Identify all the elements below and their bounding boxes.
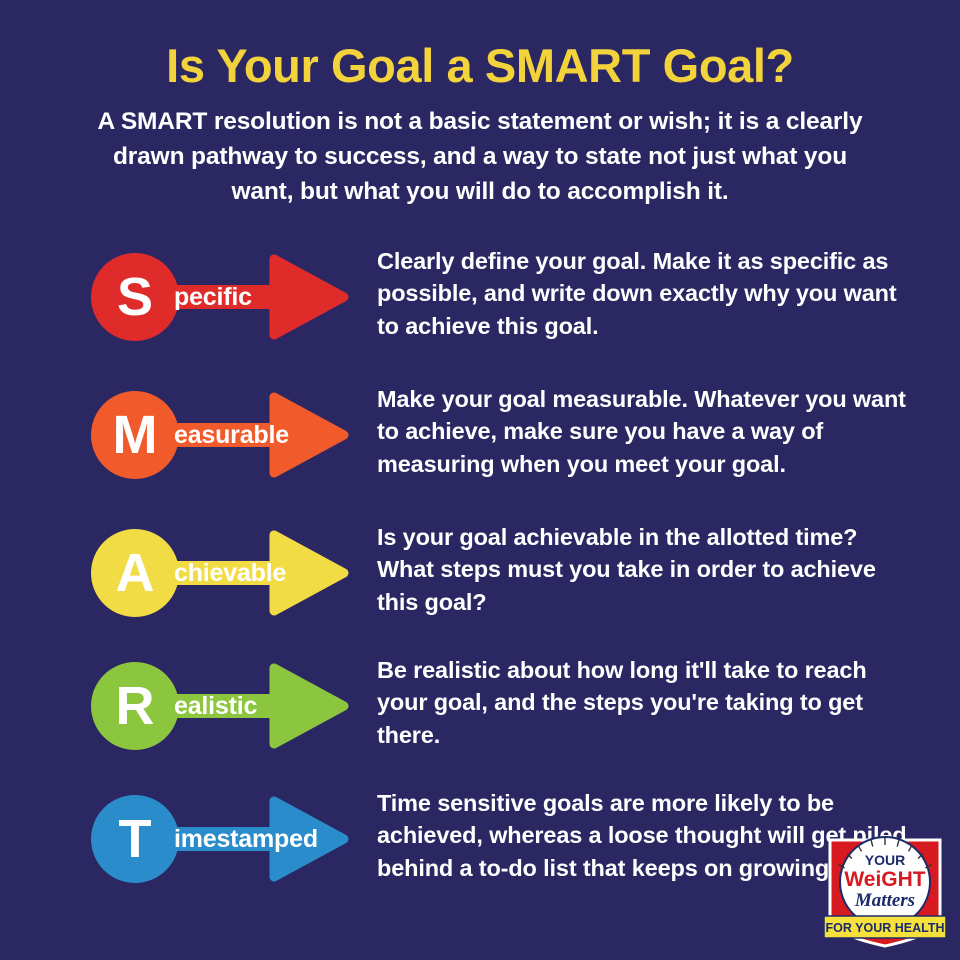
smart-letter-r: R <box>92 650 178 762</box>
smart-row-a: AchievableIs your goal achievable in the… <box>0 517 960 637</box>
logo-graphic: YOUR WeiGHT Matters FOR YOUR HEALTH <box>820 832 950 952</box>
smart-row-s: SpecificClearly define your goal. Make i… <box>0 241 960 361</box>
smart-letter-t: T <box>92 783 178 895</box>
intro-paragraph: A SMART resolution is not a basic statem… <box>80 89 880 209</box>
smart-row-r: RealisticBe realistic about how long it'… <box>0 650 960 770</box>
smart-letter-m: M <box>92 379 178 491</box>
smart-word-r: ealistic <box>174 650 257 762</box>
smart-word-m: easurable <box>174 379 289 491</box>
logo-banner-text: FOR YOUR HEALTH <box>826 921 945 935</box>
smart-row-m: MeasurableMake your goal measurable. Wha… <box>0 379 960 499</box>
smart-letter-s: S <box>92 241 178 353</box>
smart-row-t: TimestampedTime sensitive goals are more… <box>0 783 960 903</box>
smart-word-s: pecific <box>174 241 252 353</box>
logo-line1: YOUR <box>865 852 905 868</box>
smart-word-a: chievable <box>174 517 286 629</box>
logo-line2: WeiGHT <box>844 868 925 891</box>
smart-description-m: Make your goal measurable. Whatever you … <box>377 383 917 480</box>
smart-letter-a: A <box>92 517 178 629</box>
page-title: Is Your Goal a SMART Goal? <box>0 0 960 89</box>
smart-description-r: Be realistic about how long it'll take t… <box>377 654 917 751</box>
smart-arrow-s[interactable]: Specific <box>78 241 350 353</box>
infographic-header: Is Your Goal a SMART Goal? A SMART resol… <box>0 0 960 209</box>
smart-arrow-t[interactable]: Timestamped <box>78 783 350 895</box>
your-weight-matters-logo: YOUR WeiGHT Matters FOR YOUR HEALTH <box>820 832 950 952</box>
smart-word-t: imestamped <box>174 783 318 895</box>
smart-arrow-a[interactable]: Achievable <box>78 517 350 629</box>
smart-arrow-r[interactable]: Realistic <box>78 650 350 762</box>
smart-description-a: Is your goal achievable in the allotted … <box>377 521 917 618</box>
logo-line3: Matters <box>854 890 915 911</box>
smart-arrow-m[interactable]: Measurable <box>78 379 350 491</box>
smart-description-s: Clearly define your goal. Make it as spe… <box>377 245 917 342</box>
